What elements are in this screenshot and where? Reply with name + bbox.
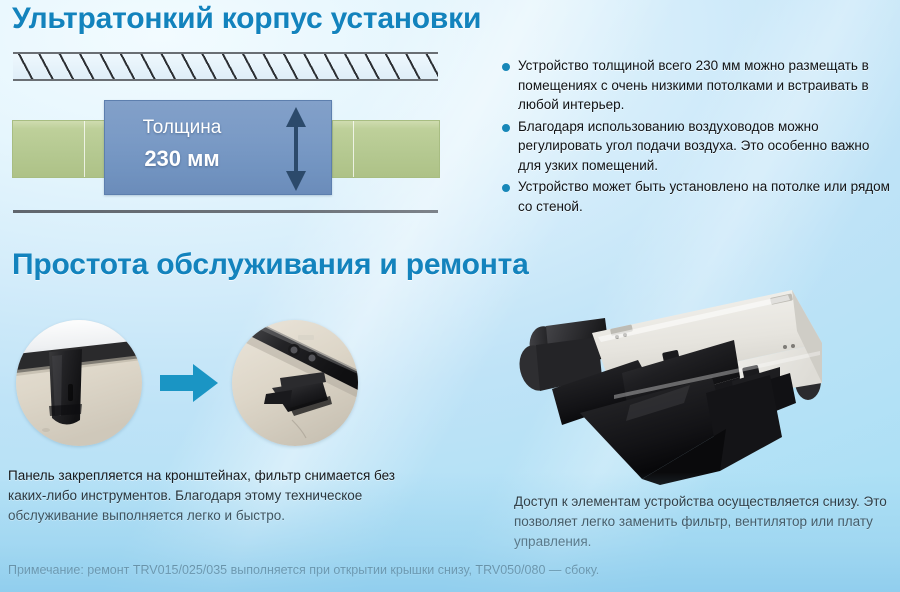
list-item: Устройство может быть установлено на пот… <box>500 177 892 216</box>
thickness-diagram: Толщина 230 мм <box>0 45 470 220</box>
air-duct-right <box>332 120 440 178</box>
bullet-dot-icon <box>502 63 510 71</box>
page-title-section-1: Ультратонкий корпус установки <box>12 2 481 36</box>
footnote-repair-note: Примечание: ремонт TRV015/025/035 выполн… <box>8 563 599 577</box>
unit-body-block: Толщина 230 мм <box>104 100 332 195</box>
double-headed-vertical-arrow-icon <box>285 107 307 191</box>
feature-bullet-list: Устройство толщиной всего 230 мм можно р… <box>500 56 892 218</box>
page-title-section-2: Простота обслуживания и ремонта <box>12 248 529 282</box>
list-item: Устройство толщиной всего 230 мм можно р… <box>500 56 892 115</box>
thickness-value: 230 мм <box>105 146 259 172</box>
slide-canvas: Ультратонкий корпус установки Толщина 23… <box>0 0 900 592</box>
list-item-label: Устройство толщиной всего 230 мм можно р… <box>518 56 892 115</box>
panel-bracket-closeup-photo <box>16 320 142 446</box>
duct-seam-line <box>353 121 354 177</box>
list-item-label: Устройство может быть установлено на пот… <box>518 177 892 216</box>
ceiling-ventilation-unit-photo <box>470 285 900 490</box>
caption-maintenance: Панель закрепляется на кронштейнах, филь… <box>8 466 428 526</box>
air-duct-left <box>12 120 108 178</box>
filter-latch-closeup-photo <box>232 320 358 446</box>
list-item: Благодаря использованию воздуховодов мож… <box>500 117 892 176</box>
right-arrow-icon <box>160 362 218 404</box>
ceiling-hatch-pattern <box>13 54 438 79</box>
floor-reference-line <box>13 210 438 213</box>
caption-access: Доступ к элементам устройства осуществля… <box>514 492 894 552</box>
duct-seam-line <box>84 121 85 177</box>
bullet-dot-icon <box>502 184 510 192</box>
hatched-ceiling-slab <box>13 52 438 81</box>
bullet-dot-icon <box>502 124 510 132</box>
thickness-label: Толщина <box>105 117 259 139</box>
list-item-label: Благодаря использованию воздуховодов мож… <box>518 117 892 176</box>
